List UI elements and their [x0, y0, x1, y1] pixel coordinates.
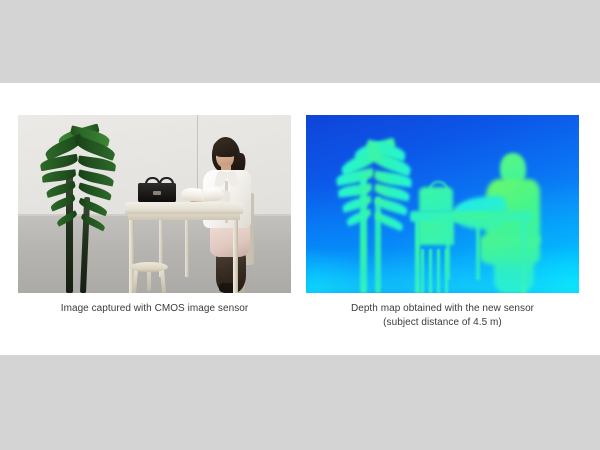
depth-table-top: [410, 211, 532, 222]
handbag: [138, 177, 176, 203]
palm-trunk: [80, 197, 90, 293]
palm-frond: [78, 198, 109, 217]
stool-seat: [130, 262, 168, 272]
table-leg: [185, 219, 189, 277]
stool-leg: [147, 269, 151, 291]
stool: [130, 262, 168, 293]
top-letterbox-band: [0, 0, 600, 83]
depth-map-scene: [306, 115, 579, 293]
table-apron: [128, 213, 240, 220]
figure-panel-depth: Depth map obtained with the new sensor (…: [306, 115, 579, 329]
figure-panel-cmos: Image captured with CMOS image sensor: [18, 115, 291, 316]
open-book: [181, 186, 225, 203]
depth-map-image: [306, 115, 579, 293]
cmos-photo-image: [18, 115, 291, 293]
stool-leg: [132, 269, 138, 293]
depth-map-caption: Depth map obtained with the new sensor (…: [306, 302, 579, 329]
depth-near-floor-glow: [306, 249, 579, 293]
screenshot-root: Image captured with CMOS image sensor: [0, 0, 600, 450]
bag-clasp: [153, 191, 161, 195]
caption-line: Depth map obtained with the new sensor: [306, 302, 579, 316]
depth-handbag: [419, 187, 453, 213]
book-page-left: [181, 187, 203, 202]
table-top: [125, 202, 243, 214]
cmos-photo-caption: Image captured with CMOS image sensor: [18, 302, 291, 316]
book-page-right: [203, 187, 225, 202]
hair-front: [213, 139, 237, 157]
caption-line: (subject distance of 4.5 m): [306, 316, 579, 330]
bottom-letterbox-band: [0, 355, 600, 450]
palm-plant: [38, 127, 118, 293]
stool-leg: [160, 269, 166, 293]
figure-content-area: Image captured with CMOS image sensor: [0, 83, 600, 355]
table-leg: [233, 219, 238, 293]
caption-line: Image captured with CMOS image sensor: [18, 302, 291, 316]
